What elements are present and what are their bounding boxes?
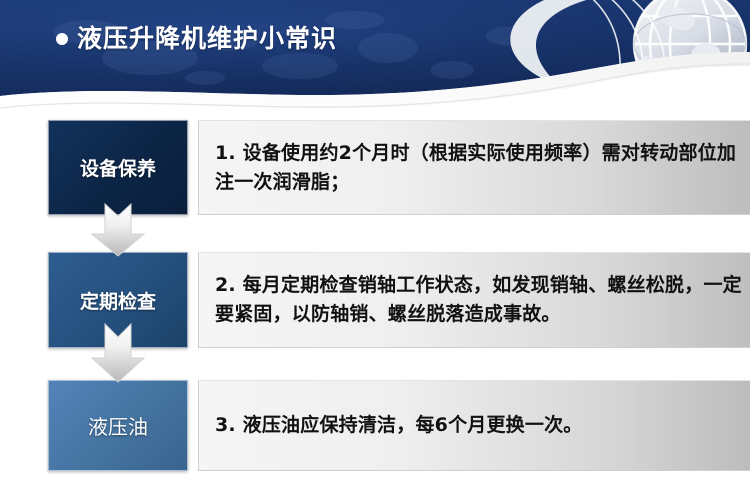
header-banner: 液压升降机维护小常识 [0, 0, 750, 112]
step-1-text: 1. 设备使用约2个月时（根据实际使用频率）需对转动部位加注一次润滑脂； [215, 139, 740, 197]
step-3-label: 液压油 [88, 411, 148, 440]
step-1-label-box[interactable]: 设备保养 [48, 120, 188, 215]
bullet-dot-icon [56, 33, 68, 45]
down-arrow-icon-2 [88, 322, 148, 384]
down-arrow-shape-1 [88, 202, 148, 258]
header-background [0, 0, 750, 112]
step-3-text: 3. 液压油应保持清洁，每6个月更换一次。 [215, 411, 582, 440]
step-1-label: 设备保养 [80, 154, 156, 181]
step-2-text: 2. 每月定期检查销轴工作状态，如发现销轴、螺丝松脱，一定要紧固，以防轴销、螺丝… [215, 271, 750, 329]
page-title-text: 液压升降机维护小常识 [77, 24, 337, 53]
step-1-content-box: 1. 设备使用约2个月时（根据实际使用频率）需对转动部位加注一次润滑脂； [198, 120, 750, 215]
down-arrow-shape-2 [88, 322, 148, 384]
step-3-label-box[interactable]: 液压油 [48, 380, 188, 471]
down-arrow-icon-1 [88, 202, 148, 258]
page-title: 液压升降机维护小常识 [56, 19, 337, 55]
step-3-content-box: 3. 液压油应保持清洁，每6个月更换一次。 [198, 380, 750, 471]
step-2-label: 定期检查 [80, 287, 156, 314]
step-2-content-box: 2. 每月定期检查销轴工作状态，如发现销轴、螺丝松脱，一定要紧固，以防轴销、螺丝… [198, 252, 750, 348]
